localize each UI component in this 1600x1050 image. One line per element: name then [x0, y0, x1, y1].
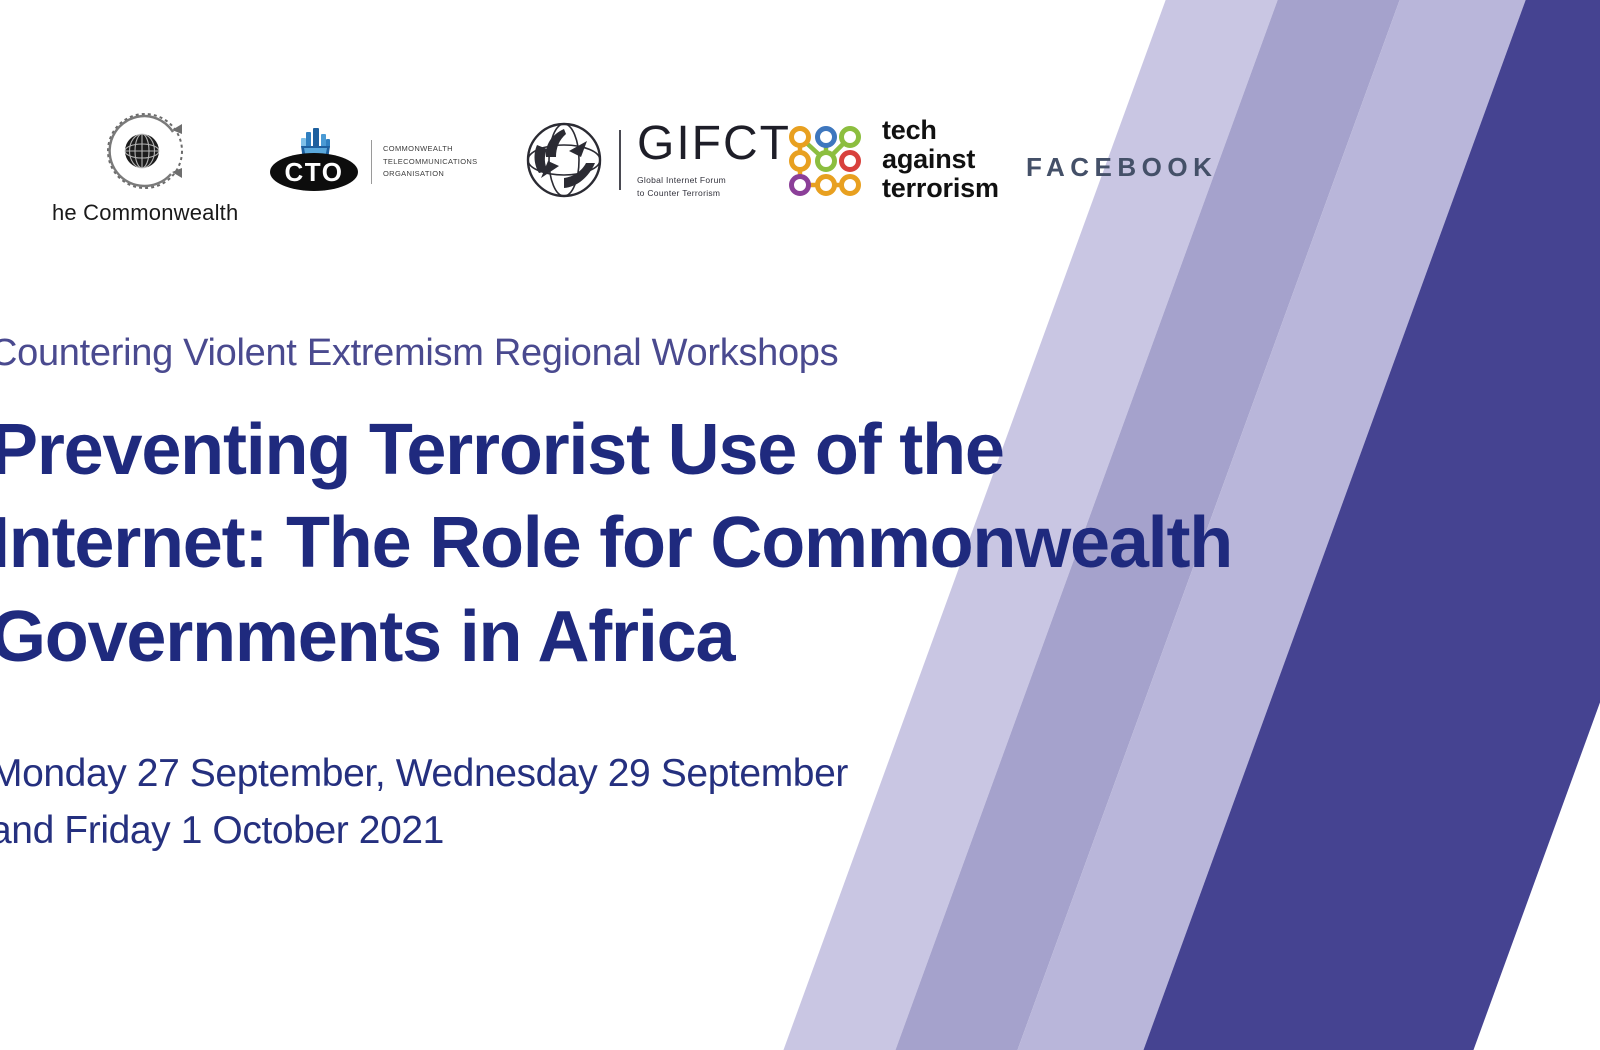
headline-line-1: Preventing Terrorist Use of the [0, 404, 1410, 498]
headline-line-2: Internet: The Role for Commonwealth [0, 497, 1410, 591]
cto-divider [371, 140, 372, 184]
logo-tat-text: tech against terrorism [882, 116, 999, 203]
logo-commonwealth-label: he Commonwealth [52, 200, 238, 226]
tat-line-2: against [882, 145, 999, 174]
logo-cto-text: COMMONWEALTH TELECOMMUNICATIONS ORGANISA… [383, 143, 478, 180]
gifct-tag-line-2: to Counter Terrorism [637, 187, 791, 200]
date-line-2: and Friday 1 October 2021 [0, 803, 1410, 860]
slide-content: Countering Violent Extremism Regional Wo… [0, 330, 1410, 859]
logo-facebook-wordmark: FACEBOOK [1026, 152, 1217, 183]
title-slide: he Commonwealth CTO [0, 0, 1600, 1050]
logo-tech-against-terrorism: tech against terrorism [782, 116, 999, 203]
logo-gifct-tagline: Global Internet Forum to Counter Terrori… [637, 174, 791, 200]
cto-line-2: TELECOMMUNICATIONS [383, 156, 478, 168]
cto-line-1: COMMONWEALTH [383, 143, 478, 155]
logo-facebook: FACEBOOK [1026, 152, 1217, 183]
gifct-globe-icon [525, 121, 603, 199]
tat-network-icon [782, 117, 868, 203]
cto-globe-icon: CTO [268, 126, 360, 198]
tat-line-1: tech [882, 116, 999, 145]
logo-gifct-name: GIFCT [637, 120, 791, 168]
partner-logo-bar: he Commonwealth CTO [0, 108, 1240, 238]
tat-line-3: terrorism [882, 174, 999, 203]
logo-commonwealth: he Commonwealth [52, 110, 238, 226]
slide-headline: Preventing Terrorist Use of the Internet… [0, 404, 1410, 685]
cto-mark-text: CTO [285, 157, 344, 187]
logo-cto: CTO COMMONWEALTH TELECOMMUNICATIONS ORGA… [268, 126, 478, 198]
headline-line-3: Governments in Africa [0, 591, 1410, 685]
gifct-divider [619, 130, 621, 190]
cto-line-3: ORGANISATION [383, 168, 478, 180]
slide-dates: Monday 27 September, Wednesday 29 Septem… [0, 746, 1410, 859]
logo-gifct: GIFCT Global Internet Forum to Counter T… [525, 120, 791, 200]
commonwealth-globe-icon [104, 110, 186, 192]
slide-eyebrow: Countering Violent Extremism Regional Wo… [0, 330, 1410, 378]
gifct-tag-line-1: Global Internet Forum [637, 174, 791, 187]
date-line-1: Monday 27 September, Wednesday 29 Septem… [0, 746, 1410, 803]
